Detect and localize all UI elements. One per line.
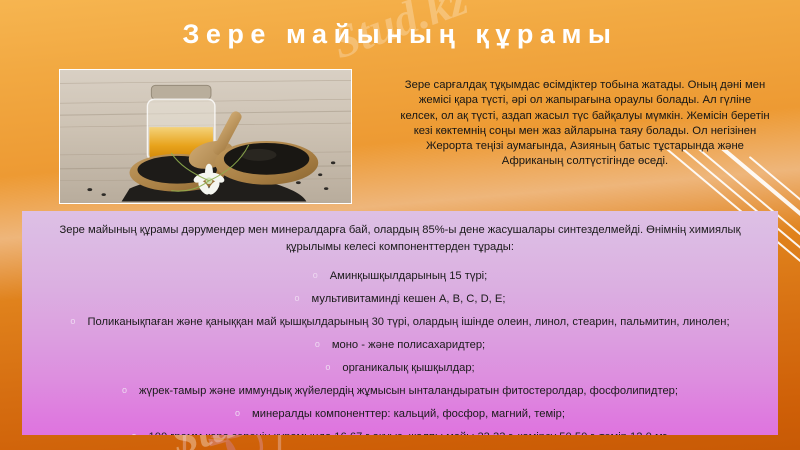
content-panel: Зере майының құрамы дәрумендер мен минер…	[22, 211, 778, 435]
content-paragraph: Зере майының құрамы дәрумендер мен минер…	[32, 222, 768, 256]
bullet-marker-icon: o	[315, 339, 320, 349]
list-item-label: Поликанықпаған және қаныққан май қышқылд…	[87, 316, 729, 328]
bullet-marker-icon: o	[235, 408, 240, 418]
list-item: oорганикалық қышқылдар;	[32, 356, 768, 379]
black-cumin-oil-photo	[59, 69, 352, 204]
list-item-label: моно - және полисахаридтер;	[332, 339, 485, 351]
list-item-label: Аминқышқылдарының 15 түрі;	[330, 270, 488, 282]
list-item: oАминқышқылдарының 15 түрі;	[32, 264, 768, 287]
list-item-label: минералды компоненттер: кальций, фосфор,…	[252, 408, 565, 420]
bullet-marker-icon: o	[295, 293, 300, 303]
list-item: oминералды компоненттер: кальций, фосфор…	[32, 402, 768, 425]
intro-paragraph: Зере сарғалдақ тұқымдас өсімдіктер тобын…	[400, 78, 770, 170]
list-item: oмультивитаминді кешен A, B, C, D, E;	[32, 287, 768, 310]
bullet-marker-icon: o	[122, 385, 127, 395]
intro-textbox: Зере сарғалдақ тұқымдас өсімдіктер тобын…	[392, 73, 778, 197]
list-item: oПоликанықпаған және қаныққан май қышқыл…	[32, 310, 768, 333]
list-item-label: мультивитаминді кешен A, B, C, D, E;	[312, 293, 506, 305]
bullet-marker-icon: o	[313, 270, 318, 280]
bullet-marker-icon: o	[325, 362, 330, 372]
list-item-label: 100 грамм қара зеренің құрамында 16,67 г…	[149, 431, 669, 435]
bullet-marker-icon: o	[70, 316, 75, 326]
list-item: oмоно - және полисахаридтер;	[32, 333, 768, 356]
list-item: oжүрек-тамыр және иммундық жүйелердің жұ…	[32, 379, 768, 402]
list-item-label: жүрек-тамыр және иммундық жүйелердің жұм…	[139, 385, 678, 397]
page-title: Зере майының құрамы	[0, 17, 800, 51]
list-item-label: органикалық қышқылдар;	[342, 362, 474, 374]
composition-bullet-list: oАминқышқылдарының 15 түрі; oмультивитам…	[32, 264, 768, 435]
bullet-marker-icon: o	[132, 431, 137, 435]
photo-illustration	[60, 70, 351, 203]
list-item: o100 грамм қара зеренің құрамында 16,67 …	[32, 425, 768, 435]
